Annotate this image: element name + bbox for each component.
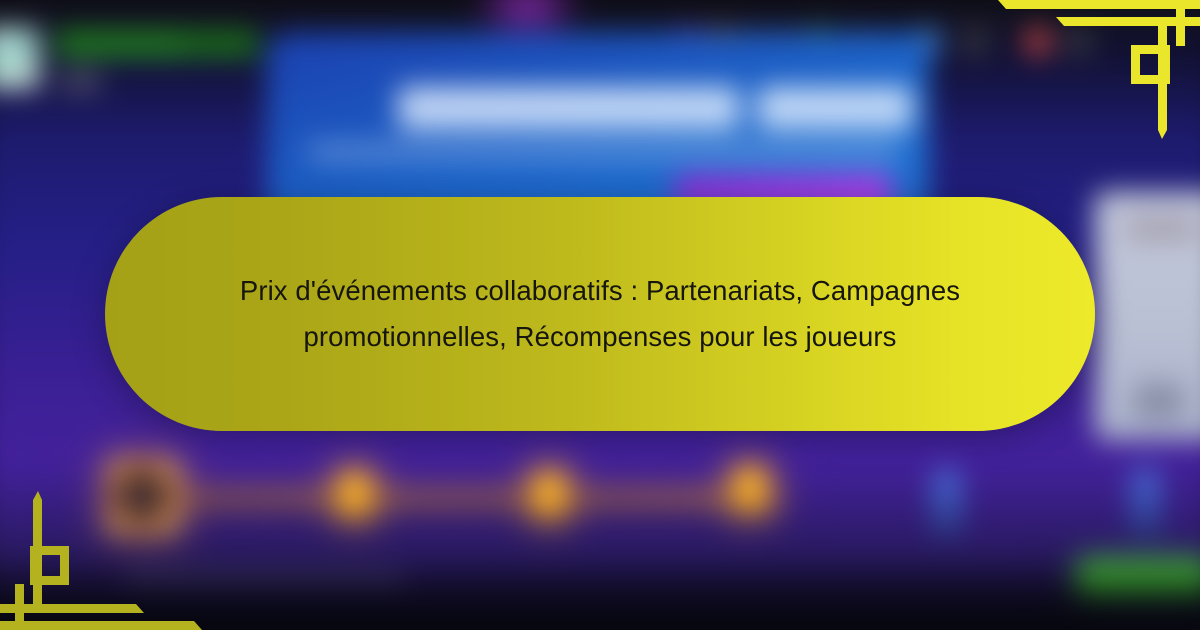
page-thumbnail [0, 28, 39, 88]
title-card: Prix d'événements collaboratifs : Parten… [105, 197, 1095, 431]
header-icon-gray-5 [1066, 28, 1093, 55]
browser-chrome-bar [0, 0, 1200, 28]
hero-title-blur [398, 86, 740, 129]
green-badge-secondary [182, 30, 257, 57]
track-node-1 [337, 470, 372, 518]
header-icon-red [1024, 28, 1051, 55]
header-icon-gray-4 [962, 28, 989, 55]
progress-track [134, 493, 776, 502]
track-node-2 [532, 470, 567, 518]
hero-subtitle-blur [308, 142, 898, 161]
reward-chest-icon [105, 457, 182, 536]
player-pawn-2 [1130, 467, 1161, 544]
hero-title-blur-2 [757, 86, 912, 129]
player-pawn-1 [931, 467, 962, 544]
right-panel-item-2 [1134, 382, 1184, 419]
screenshot-canvas: Prix d'événements collaboratifs : Parten… [0, 0, 1200, 630]
track-node-3 [732, 465, 767, 513]
page-title: Prix d'événements collaboratifs : Parten… [200, 268, 1000, 360]
right-panel-item-1 [1126, 215, 1198, 242]
gray-chip [60, 70, 101, 93]
bottom-vignette [0, 558, 1200, 630]
